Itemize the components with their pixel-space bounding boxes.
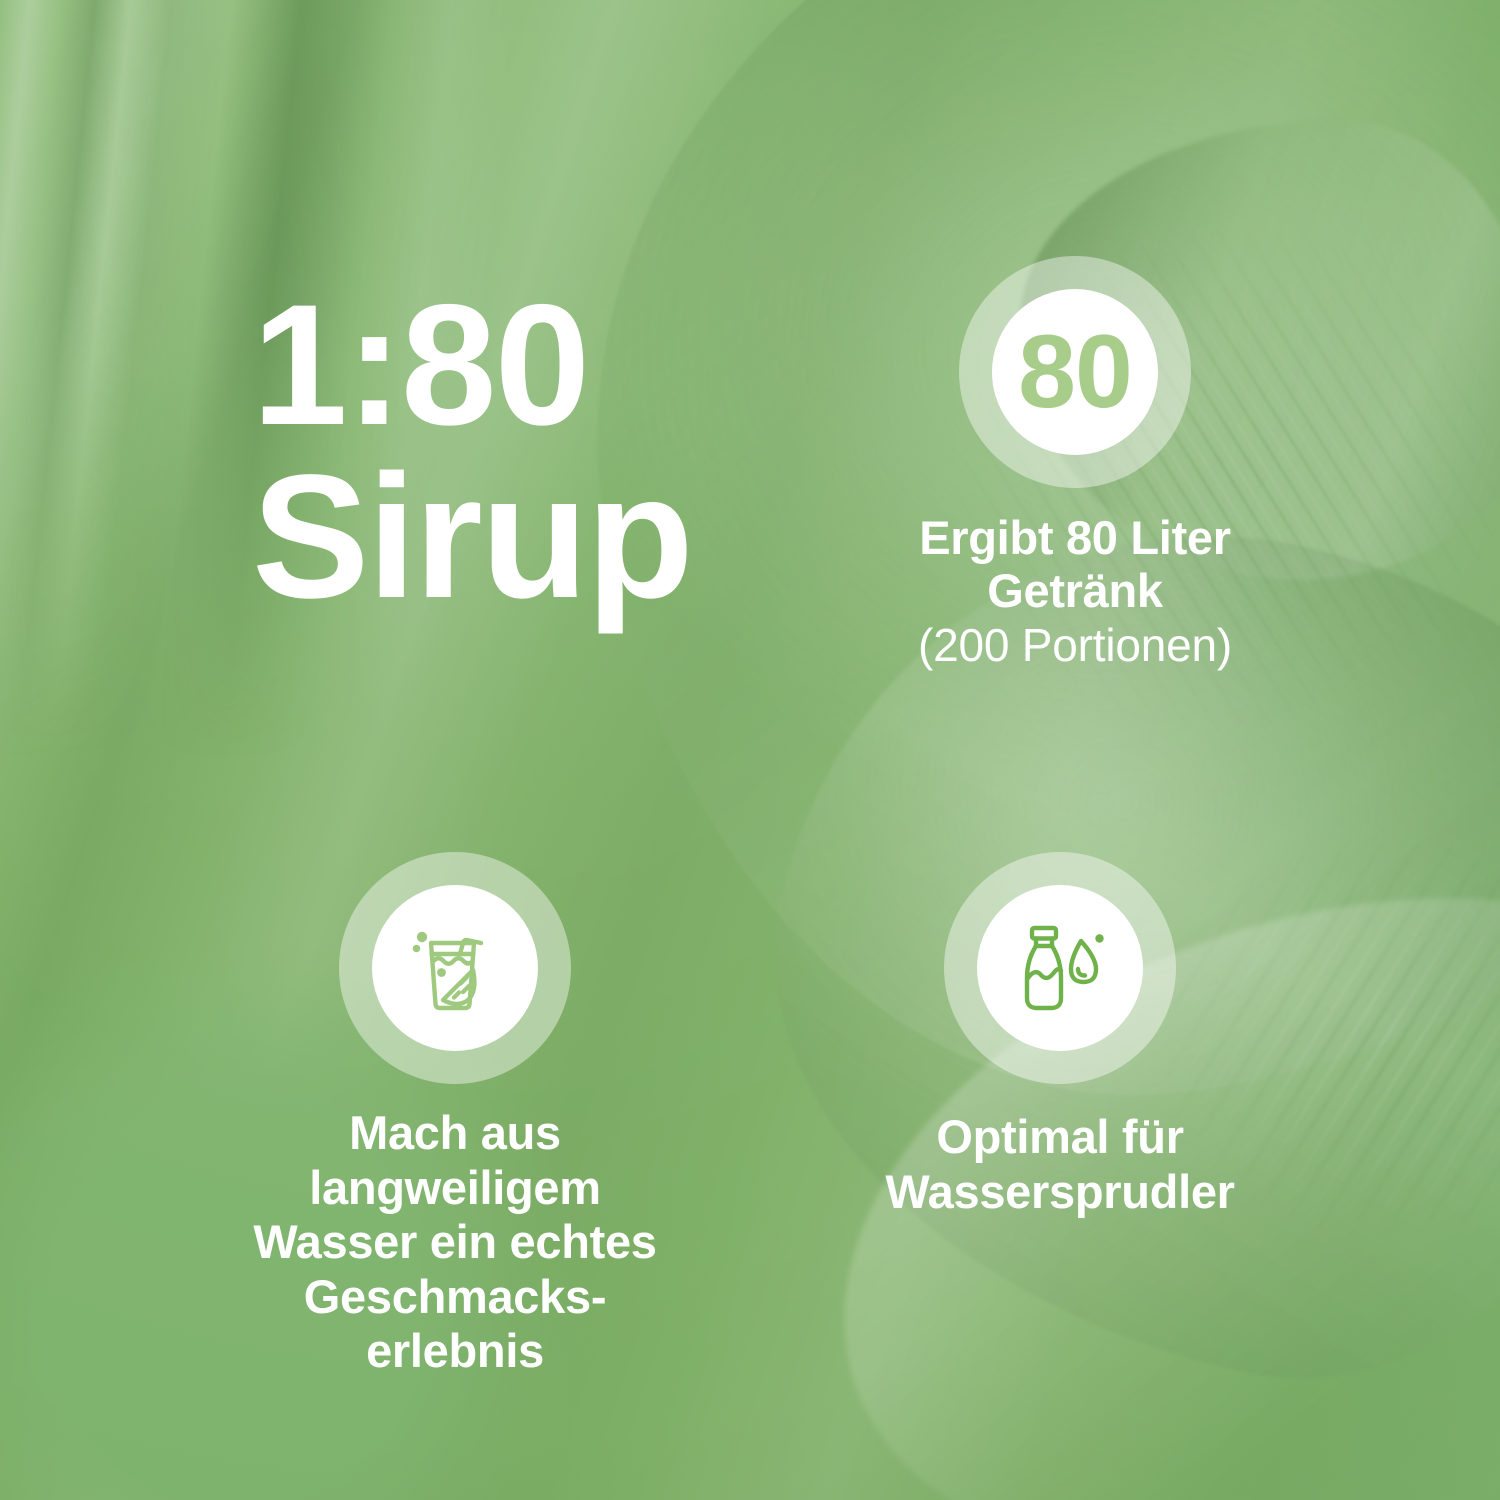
feature-sparkler: Optimal für Wassersprudler xyxy=(775,852,1345,1219)
icon-inner-circle xyxy=(372,885,538,1051)
feature-taste-line4: Geschmacks- xyxy=(304,1270,606,1323)
page-title: 1:80 Sirup xyxy=(252,280,812,625)
icon-inner-circle xyxy=(977,885,1143,1051)
feature-taste-line3: Wasser ein echtes xyxy=(253,1215,656,1268)
feature-taste-line1: Mach aus xyxy=(349,1106,561,1159)
bottle-water-drop-icon xyxy=(1008,916,1112,1020)
feature-taste: Mach aus langweiligem Wasser ein echtes … xyxy=(175,852,735,1379)
feature-liters-title: Ergibt 80 Liter Getränk xyxy=(790,512,1360,617)
content-layer: 1:80 Sirup 80 Ergibt 80 Liter Getränk (2… xyxy=(0,0,1500,1500)
headline-ratio: 1:80 xyxy=(252,280,812,450)
badge-number-label: 80 xyxy=(1018,320,1132,424)
feature-liters: 80 Ergibt 80 Liter Getränk (200 Portione… xyxy=(790,256,1360,672)
feature-taste-icon-ring xyxy=(339,852,571,1084)
feature-sparkler-line1: Optimal für xyxy=(936,1110,1183,1163)
feature-taste-line2: langweiligem xyxy=(309,1161,601,1214)
headline-word: Sirup xyxy=(252,450,812,624)
feature-sparkler-icon-ring xyxy=(944,852,1176,1084)
drink-glass-icon xyxy=(403,916,507,1020)
feature-taste-body: Mach aus langweiligem Wasser ein echtes … xyxy=(175,1106,735,1379)
feature-liters-title-line2: Getränk xyxy=(987,564,1163,617)
feature-taste-line5: erlebnis xyxy=(366,1324,544,1377)
feature-sparkler-body: Optimal für Wassersprudler xyxy=(775,1110,1345,1219)
badge-inner-circle: 80 xyxy=(992,289,1158,455)
feature-liters-title-line1: Ergibt 80 Liter xyxy=(919,511,1231,564)
feature-liters-subtitle: (200 Portionen) xyxy=(790,619,1360,672)
feature-sparkler-line2: Wassersprudler xyxy=(885,1165,1234,1218)
number-badge-80-icon: 80 xyxy=(959,256,1191,488)
product-infographic: 1:80 Sirup 80 Ergibt 80 Liter Getränk (2… xyxy=(0,0,1500,1500)
